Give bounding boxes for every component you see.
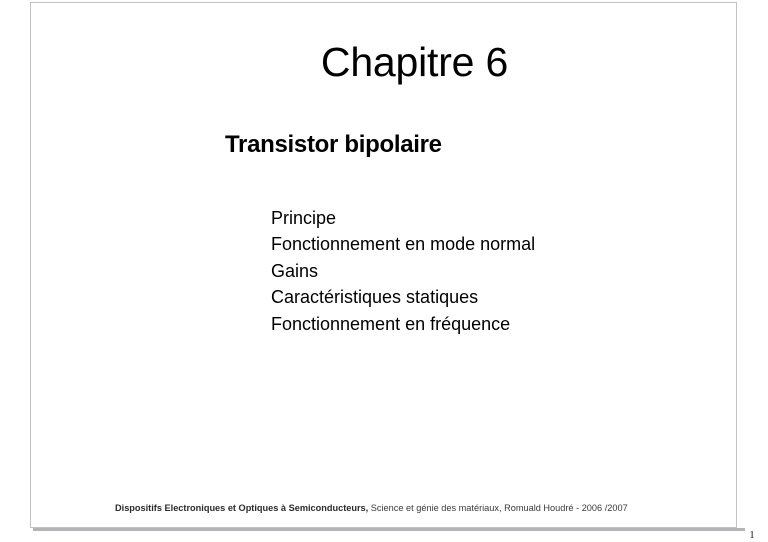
slide-canvas: Chapitre 6 Transistor bipolaire Principe…	[30, 2, 737, 528]
page-number: 1	[744, 528, 760, 542]
outline-list: Principe Fonctionnement en mode normal G…	[271, 205, 535, 337]
page-title: Chapitre 6	[61, 39, 768, 85]
list-item: Gains	[271, 258, 535, 284]
footer-credits: Science et génie des matériaux, Romuald …	[368, 503, 627, 513]
list-item: Fonctionnement en mode normal	[271, 231, 535, 257]
footer-course-name: Dispositifs Electroniques et Optiques à …	[115, 503, 368, 513]
list-item: Fonctionnement en fréquence	[271, 311, 535, 337]
slide-bottom-shadow	[33, 528, 745, 531]
slide-subtitle: Transistor bipolaire	[225, 131, 442, 159]
list-item: Principe	[271, 205, 535, 231]
list-item: Caractéristiques statiques	[271, 284, 535, 310]
slide-footer: Dispositifs Electroniques et Optiques à …	[115, 502, 628, 514]
